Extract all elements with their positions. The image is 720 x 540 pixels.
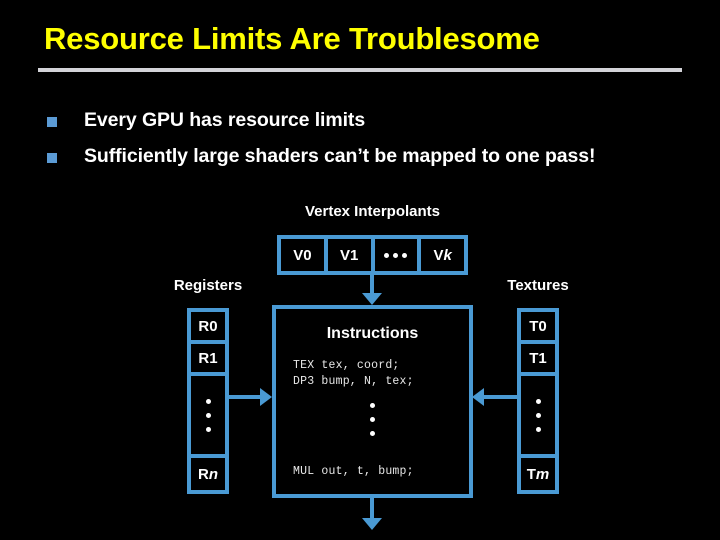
texture-cell-label: T0	[529, 318, 547, 335]
vertical-ellipsis-icon	[536, 399, 541, 432]
horizontal-ellipsis-icon	[384, 253, 407, 258]
vertex-interpolants-strip: V0 V1 Vk	[277, 235, 468, 275]
arrow-vertex-to-instructions-line	[370, 275, 374, 293]
arrow-textures-to-instructions-line	[484, 395, 518, 399]
register-cell-index: n	[209, 466, 218, 483]
vertex-cell-index: k	[443, 247, 451, 264]
registers-label: Registers	[158, 277, 258, 294]
texture-cell-label: T	[527, 466, 536, 483]
register-cell-label: R0	[198, 318, 217, 335]
shader-resource-diagram: Vertex Interpolants V0 V1 Vk Registers	[0, 0, 720, 540]
arrow-instructions-output-line	[370, 498, 374, 520]
vertical-ellipsis-icon	[206, 399, 211, 432]
arrow-vertex-to-instructions-head-icon	[362, 293, 382, 305]
instructions-title: Instructions	[276, 325, 469, 343]
register-cell-label: R1	[198, 350, 217, 367]
texture-cell-ellipsis	[521, 376, 555, 458]
arrow-textures-to-instructions-head-icon	[472, 388, 484, 406]
arrow-registers-to-instructions-head-icon	[260, 388, 272, 406]
vertex-cell-vk: Vk	[421, 239, 464, 271]
register-cell-r0: R0	[191, 312, 225, 344]
textures-stack: T0 T1 Tm	[517, 308, 559, 494]
vertex-cell-ellipsis	[375, 239, 422, 271]
register-cell-rn: Rn	[191, 458, 225, 490]
vertex-cell-label: V0	[293, 247, 311, 264]
texture-cell-tm: Tm	[521, 458, 555, 490]
vertex-cell-v1: V1	[328, 239, 375, 271]
register-cell-label: R	[198, 466, 209, 483]
instructions-code-bottom: MUL out, t, bump;	[293, 465, 414, 478]
texture-cell-index: m	[536, 466, 549, 483]
instructions-code-top: TEX tex, coord; DP3 bump, N, tex;	[293, 358, 414, 389]
vertex-cell-label: V	[433, 247, 443, 264]
textures-label: Textures	[488, 277, 588, 294]
arrow-registers-to-instructions-line	[228, 395, 262, 399]
vertex-cell-v0: V0	[281, 239, 328, 271]
register-cell-ellipsis	[191, 376, 225, 458]
vertex-cell-label: V1	[340, 247, 358, 264]
texture-cell-label: T1	[529, 350, 547, 367]
slide-root: Resource Limits Are Troublesome Every GP…	[0, 0, 720, 540]
arrow-instructions-output-head-icon	[362, 518, 382, 530]
texture-cell-t1: T1	[521, 344, 555, 376]
vertical-ellipsis-icon	[276, 403, 469, 436]
instructions-box: Instructions TEX tex, coord; DP3 bump, N…	[272, 305, 473, 498]
vertex-interpolants-label: Vertex Interpolants	[277, 203, 468, 220]
texture-cell-t0: T0	[521, 312, 555, 344]
register-cell-r1: R1	[191, 344, 225, 376]
registers-stack: R0 R1 Rn	[187, 308, 229, 494]
